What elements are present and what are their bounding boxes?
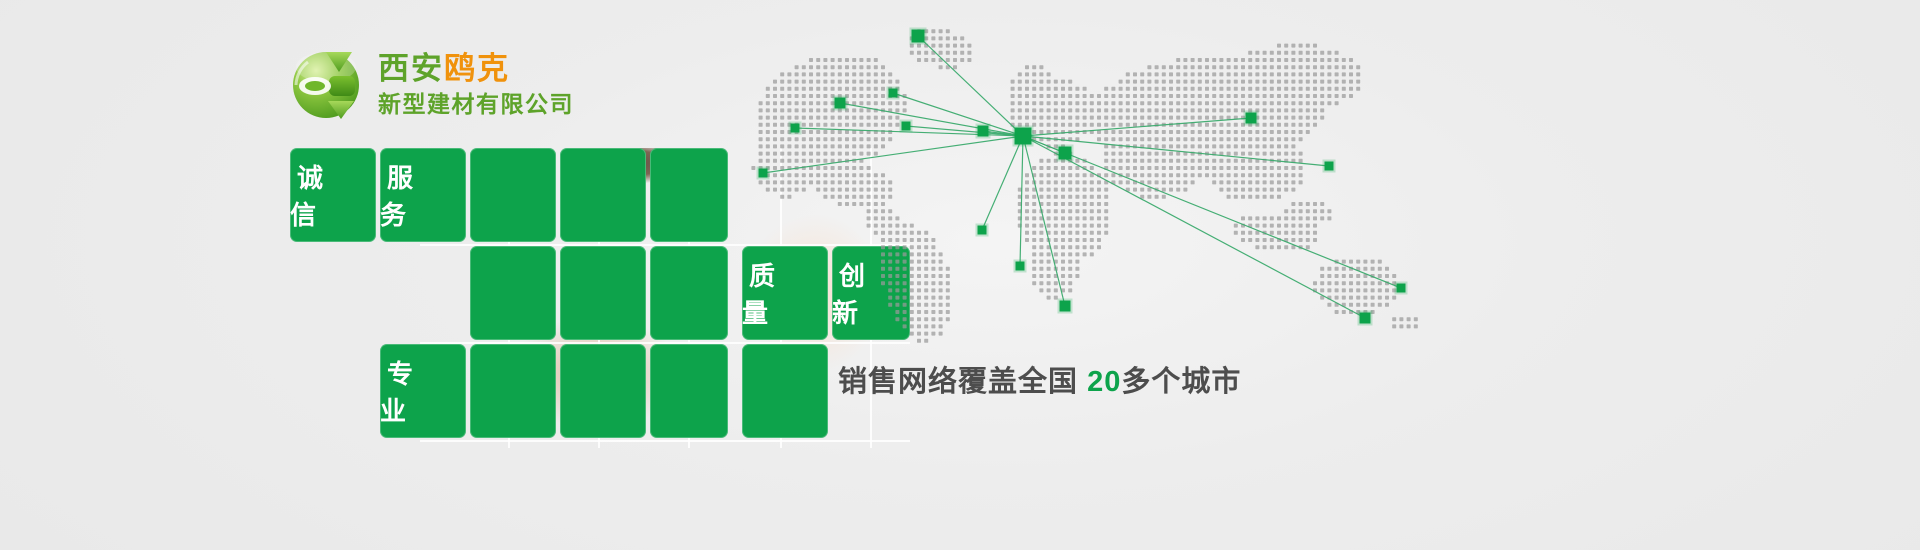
logo-text: 西安鸥克 新型建材有限公司	[378, 53, 574, 116]
tagline-count: 20	[1087, 366, 1121, 398]
tagline-suffix: 多个城市	[1121, 366, 1241, 398]
network-tagline: 销售网络覆盖全国 20多个城市	[838, 358, 1241, 400]
globe-leaf-logo-icon	[292, 45, 364, 123]
company-logo[interactable]: 西安鸥克 新型建材有限公司	[292, 45, 574, 123]
mosaic-tile-11	[470, 344, 556, 438]
value-tile-1: 服 务	[380, 148, 466, 242]
hero-banner: 西安鸥克 新型建材有限公司 诚 信服 务质 量创 新专 业	[0, 0, 1920, 550]
mosaic-tile-13	[650, 344, 728, 438]
world-map-svg	[735, 18, 1435, 348]
mosaic-tile-7	[650, 246, 728, 340]
mosaic-tile-4	[650, 148, 728, 242]
mosaic-tile-3	[560, 148, 646, 242]
logo-subtitle: 新型建材有限公司	[378, 93, 574, 116]
tagline-prefix: 销售网络覆盖全国	[838, 366, 1087, 398]
mosaic-tile-2	[470, 148, 556, 242]
mosaic-tile-14	[742, 344, 828, 438]
mosaic-tile-12	[560, 344, 646, 438]
value-tile-0: 诚 信	[290, 148, 376, 242]
logo-brand: 鸥克	[444, 51, 510, 86]
mosaic-tile-6	[560, 246, 646, 340]
logo-title-line: 西安鸥克	[378, 53, 574, 84]
value-tile-10: 专 业	[380, 344, 466, 438]
logo-city: 西安	[378, 51, 444, 86]
dotted-world-map	[735, 18, 1435, 348]
mosaic-tile-5	[470, 246, 556, 340]
